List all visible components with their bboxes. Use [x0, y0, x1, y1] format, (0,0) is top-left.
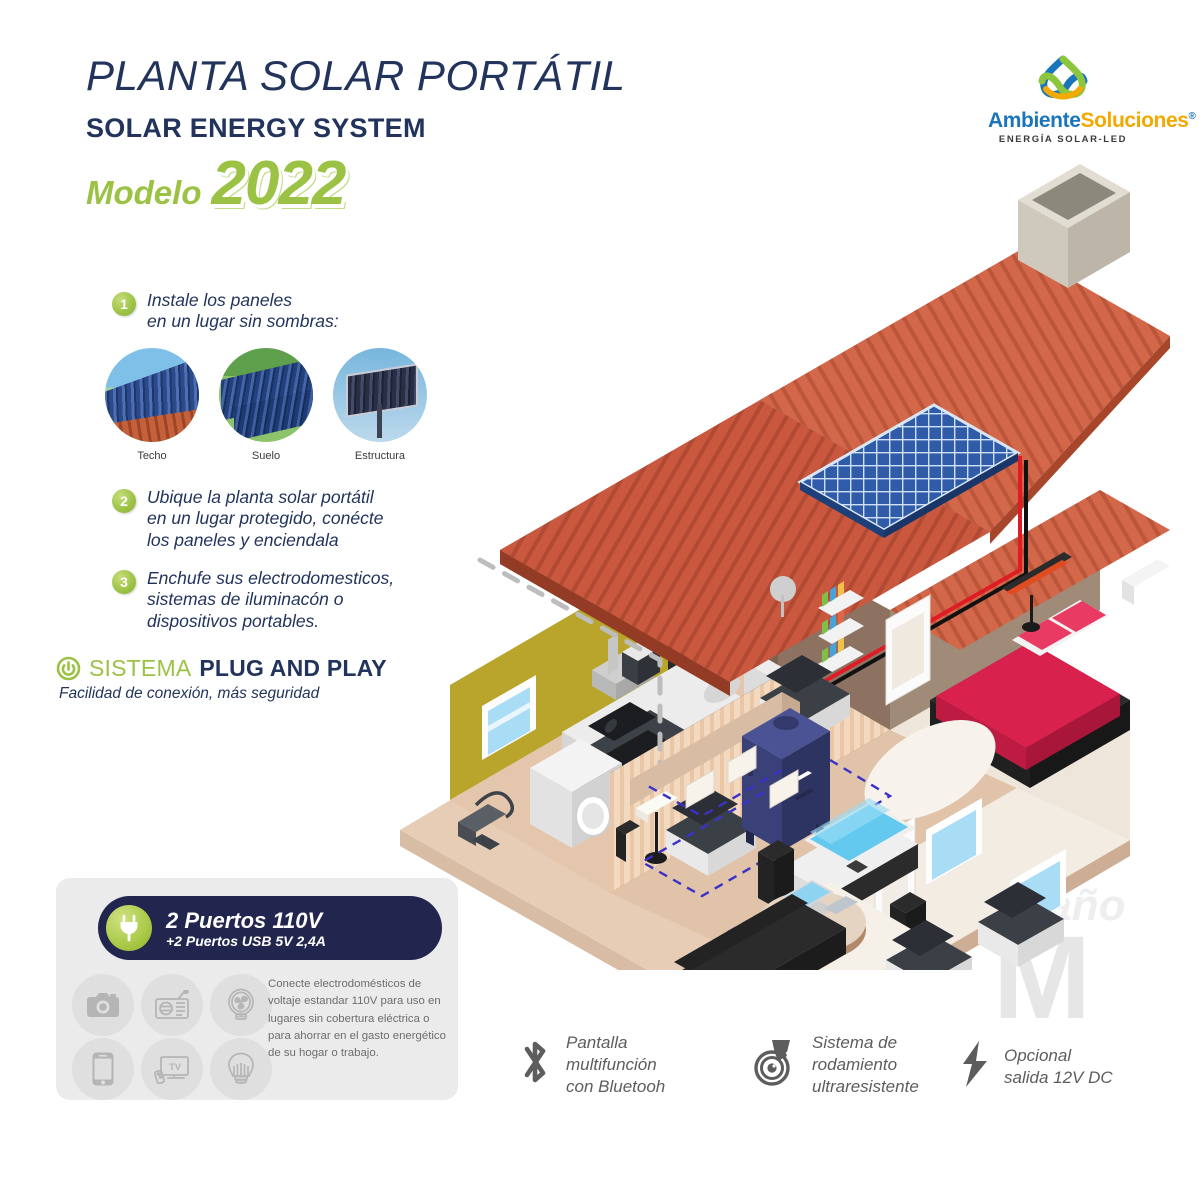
- panel-photo-caption: Suelo: [219, 450, 313, 462]
- logo-word-soluciones: Soluciones: [1080, 109, 1188, 132]
- step-badge-1: 1: [112, 292, 136, 316]
- ports-title: 2 Puertos 110V: [166, 908, 326, 934]
- feature-dc-output: Opcional salida 12V DC: [960, 1040, 1113, 1093]
- panel-photo-suelo[interactable]: Suelo: [219, 348, 313, 462]
- panel-photo-techo[interactable]: Techo: [105, 348, 199, 462]
- caster-wheel-icon: [752, 1037, 798, 1092]
- spec-description: Conecte electrodomésticos de voltaje est…: [268, 976, 453, 1063]
- plug-and-play-label-light: SISTEMA: [89, 655, 191, 682]
- device-icon-grid: TV: [72, 974, 276, 1100]
- infographic-canvas: PLANTA SOLAR PORTÁTIL SOLAR ENERGY SYSTE…: [0, 0, 1200, 1200]
- plug-icon: [106, 905, 152, 951]
- brand-logo[interactable]: AmbienteSoluciones® ENERGÍA SOLAR-LED: [988, 55, 1138, 145]
- feature-bluetooth-text: Pantalla multifunción con Bluetooh: [566, 1032, 665, 1097]
- step-badge-2: 2: [112, 489, 136, 513]
- model-year: 2022: [211, 158, 345, 211]
- logo-word-ambiente: Ambiente: [988, 109, 1080, 132]
- registered-mark: ®: [1189, 111, 1196, 122]
- feature-caster-text: Sistema de rodamiento ultraresistente: [812, 1032, 919, 1097]
- isometric-house-cutaway: [330, 140, 1170, 970]
- model-line: Modelo 2022: [86, 158, 345, 212]
- ports-text: 2 Puertos 110V +2 Puertos USB 5V 2,4A: [166, 908, 326, 949]
- page-title: PLANTA SOLAR PORTÁTIL: [86, 52, 626, 100]
- step-text-1: Instale los paneles en un lugar sin somb…: [147, 290, 339, 333]
- feature-dc-output-text: Opcional salida 12V DC: [1004, 1045, 1113, 1089]
- feature-caster: Sistema de rodamiento ultraresistente: [752, 1032, 919, 1097]
- feature-bluetooth: Pantalla multifunción con Bluetooh: [518, 1032, 665, 1097]
- solar-panel-roof-photo: [105, 348, 199, 442]
- logo-wordmark: AmbienteSoluciones®: [988, 109, 1138, 133]
- bluetooth-icon: [518, 1036, 552, 1093]
- step-badge-3: 3: [112, 570, 136, 594]
- fan-icon: [210, 974, 272, 1036]
- model-label: Modelo: [86, 174, 201, 212]
- camera-icon: [72, 974, 134, 1036]
- radio-icon: [141, 974, 203, 1036]
- step-item-1: 1 Instale los paneles en un lugar sin so…: [112, 290, 339, 333]
- smartphone-icon: [72, 1038, 134, 1100]
- panel-photo-caption: Techo: [105, 450, 199, 462]
- power-circle-icon: [56, 656, 81, 681]
- lightning-bolt-icon: [960, 1040, 990, 1093]
- tv-icon: TV: [141, 1038, 203, 1100]
- svg-text:TV: TV: [169, 1062, 182, 1073]
- lightbulb-icon: [210, 1038, 272, 1100]
- trefoil-loop-icon: [988, 55, 1138, 107]
- ports-subtitle: +2 Puertos USB 5V 2,4A: [166, 933, 326, 949]
- solar-panel-ground-photo: [219, 348, 313, 442]
